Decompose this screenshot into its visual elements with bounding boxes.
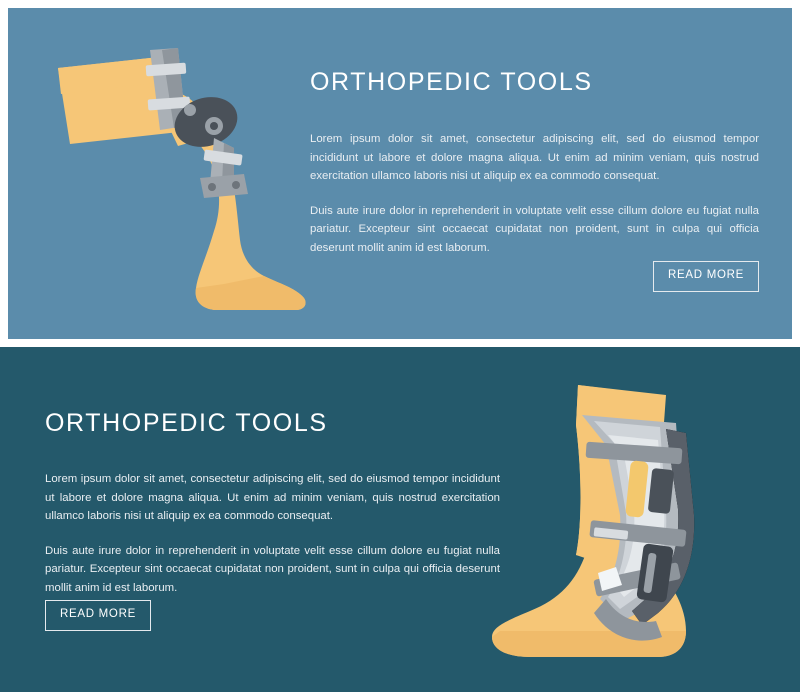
poster-page: ORTHOPEDIC TOOLS Lorem ipsum dolor sit a…: [0, 0, 800, 692]
banner-top-paragraph-1: Lorem ipsum dolor sit amet, consectetur …: [310, 130, 759, 186]
banner-bottom-paragraph-2: Duis aute irure dolor in reprehenderit i…: [45, 542, 500, 598]
banner-bottom-paragraph-1: Lorem ipsum dolor sit amet, consectetur …: [45, 470, 500, 526]
banner-top-paragraph-2: Duis aute irure dolor in reprehenderit i…: [310, 202, 759, 258]
banner-bottom-text-block: ORTHOPEDIC TOOLS Lorem ipsum dolor sit a…: [45, 409, 500, 597]
banner-top-title: ORTHOPEDIC TOOLS: [310, 68, 759, 97]
read-more-button-bottom[interactable]: READ MORE: [45, 600, 151, 631]
leg-knee-brace-icon: [28, 26, 328, 321]
banner-top-button-row: READ MORE: [310, 261, 759, 292]
banner-bottom-button-row: READ MORE: [45, 600, 151, 631]
foot-ankle-brace-icon: [490, 385, 780, 670]
banner-bottom: ORTHOPEDIC TOOLS Lorem ipsum dolor sit a…: [0, 347, 800, 692]
banner-top-text-block: ORTHOPEDIC TOOLS Lorem ipsum dolor sit a…: [310, 68, 759, 257]
read-more-button-top[interactable]: READ MORE: [653, 261, 759, 292]
banner-bottom-title: ORTHOPEDIC TOOLS: [45, 409, 500, 438]
banner-top: ORTHOPEDIC TOOLS Lorem ipsum dolor sit a…: [8, 8, 792, 339]
